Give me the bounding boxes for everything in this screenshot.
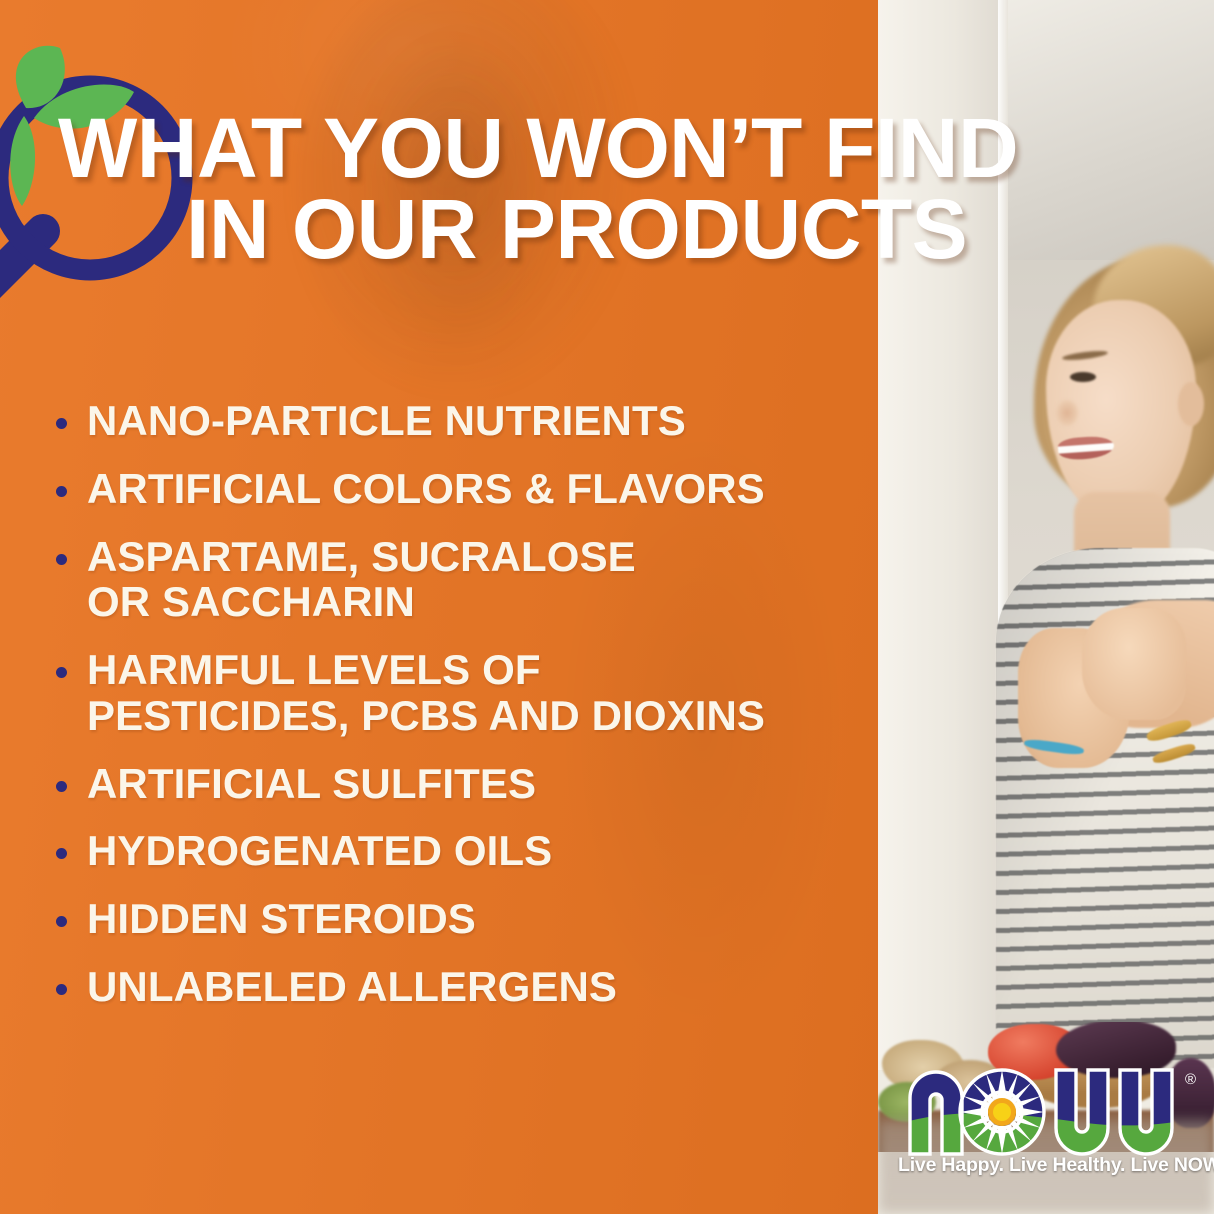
list-item-label: NANO-PARTICLE NUTRIENTS [87,398,686,444]
title-line1-pre: WHAT YOU [58,101,526,195]
registered-mark: ® [1185,1071,1196,1088]
list-item: HYDROGENATED OILS [56,828,866,874]
bullet-dot-icon [56,848,67,859]
now-foods-logo: ® Live Happy. Live Healthy. Live NOW. [898,1062,1198,1198]
bullet-dot-icon [56,486,67,497]
list-item-label: HARMFUL LEVELS OF PESTICIDES, PCBS AND D… [87,647,765,739]
bullet-dot-icon [56,916,67,927]
poster-canvas: WHAT YOU WON’T FIND IN OUR PRODUCTS NANO… [0,0,1214,1214]
model-eye [1070,372,1096,382]
title-line1-emphasis: WON’T [526,101,801,195]
list-item: ARTIFICIAL COLORS & FLAVORS [56,466,866,512]
sunburst-icon [960,1070,1044,1154]
list-item: NANO-PARTICLE NUTRIENTS [56,398,866,444]
title-line1-post: FIND [801,101,1018,195]
bullet-dot-icon [56,667,67,678]
title-line-1: WHAT YOU WON’T FIND [58,108,1214,189]
list-item-label: HIDDEN STEROIDS [87,896,476,942]
page-title: WHAT YOU WON’T FIND IN OUR PRODUCTS [0,108,1214,269]
now-wordmark-icon: ® [898,1062,1198,1158]
list-item-label: ARTIFICIAL COLORS & FLAVORS [87,466,765,512]
model-nose [1056,400,1078,426]
bullet-dot-icon [56,554,67,565]
list-item-label: HYDROGENATED OILS [87,828,552,874]
bullet-dot-icon [56,984,67,995]
list-item: UNLABELED ALLERGENS [56,964,866,1010]
list-item: ARTIFICIAL SULFITES [56,761,866,807]
model-ear [1178,382,1204,426]
bullet-dot-icon [56,418,67,429]
list-item: HARMFUL LEVELS OF PESTICIDES, PCBS AND D… [56,647,866,739]
list-item: HIDDEN STEROIDS [56,896,866,942]
excluded-ingredients-list: NANO-PARTICLE NUTRIENTS ARTIFICIAL COLOR… [56,398,866,1032]
list-item-label: ASPARTAME, SUCRALOSE OR SACCHARIN [87,534,636,626]
bullet-dot-icon [56,781,67,792]
list-item-label: ARTIFICIAL SULFITES [87,761,536,807]
list-item-label: UNLABELED ALLERGENS [87,964,617,1010]
model-right-hand [1082,608,1186,720]
list-item: ASPARTAME, SUCRALOSE OR SACCHARIN [56,534,866,626]
logo-tagline: Live Happy. Live Healthy. Live NOW. [898,1154,1198,1177]
title-line-2: IN OUR PRODUCTS [58,189,1214,270]
